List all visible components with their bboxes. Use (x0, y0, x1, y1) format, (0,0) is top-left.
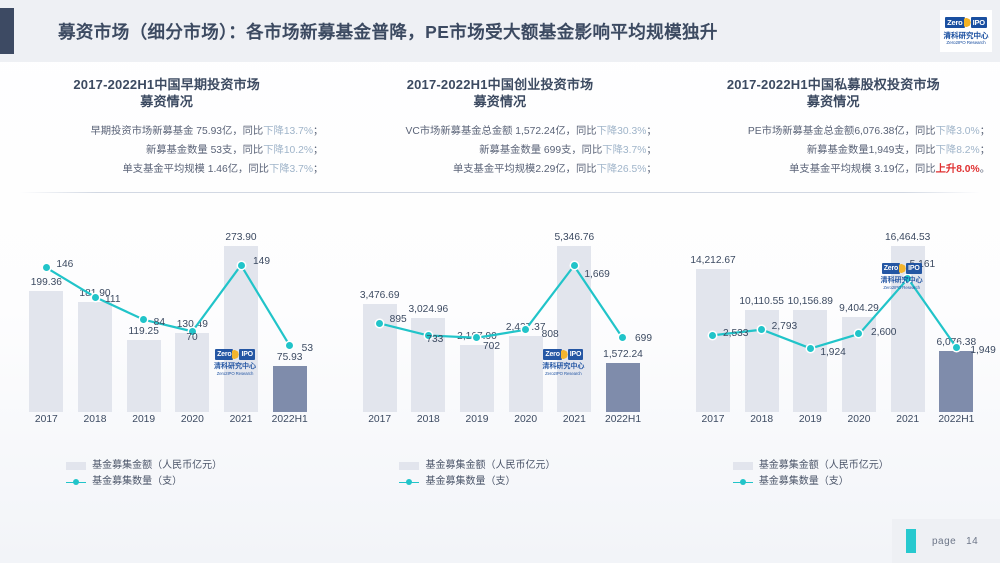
legend-amount: 基金募集金额（人民币亿元） (667, 458, 1000, 474)
line-value-label: 1,949 (970, 345, 996, 356)
legend-count-label: 基金募集数量（支） (759, 474, 934, 490)
line-value-label: 808 (542, 329, 559, 340)
line-point-2018 (92, 294, 99, 301)
x-axis-tick: 2018 (737, 414, 786, 425)
header-accent-bar (0, 8, 14, 54)
summary-text: 新募基金数量 699支，同比 (479, 145, 602, 156)
column-early-stage: 2017-2022H1中国早期投资市场 募资情况 早期投资市场新募基金 75.9… (0, 62, 333, 492)
count-line-series (22, 200, 314, 412)
x-axis-tick: 2019 (119, 414, 168, 425)
summary-line: PE市场新募基金总金额6,076.38亿，同比下降3.0%； (685, 122, 990, 141)
legend-count: 基金募集数量（支） (0, 474, 333, 490)
summary-punct: ； (313, 164, 323, 175)
summary-text: 早期投资市场新募基金 75.93亿，同比 (90, 126, 263, 137)
summary-change-value: 下降13.7% (263, 126, 313, 137)
x-axis-tick: 2020 (835, 414, 884, 425)
x-axis-tick: 2018 (71, 414, 120, 425)
chart-plot-area: 199.36181.90119.25130.49273.9075.9314611… (22, 200, 314, 412)
chart-legend: 基金募集金额（人民币亿元） 基金募集数量（支） (333, 458, 666, 490)
line-value-label: 70 (186, 332, 197, 343)
x-axis-tick: 2019 (453, 414, 502, 425)
x-axis-tick: 2021 (883, 414, 932, 425)
x-axis-tick: 2022H1 (265, 414, 314, 425)
page-title: 募资市场（细分市场）：各市场新募基金普降，PE市场受大额基金影响平均规模独升 (58, 0, 718, 62)
page-label: page (932, 536, 956, 547)
summary-change-value: 下降3.0% (936, 126, 980, 137)
legend-amount-label: 基金募集金额（人民币亿元） (425, 458, 600, 474)
legend-amount: 基金募集金额（人民币亿元） (0, 458, 333, 474)
summary-punct: ； (313, 145, 323, 156)
legend-count-label: 基金募集数量（支） (92, 474, 267, 490)
column-venture-capital: 2017-2022H1中国创业投资市场 募资情况 VC市场新募基金总金额 1,5… (333, 62, 666, 492)
legend-bar-swatch (66, 462, 86, 470)
line-value-label: 2,533 (723, 328, 749, 339)
column-private-equity: 2017-2022H1中国私募股权投资市场 募资情况 PE市场新募基金总金额6,… (667, 62, 1000, 492)
column-title: 2017-2022H1中国早期投资市场 募资情况 (0, 76, 333, 110)
legend-bar-swatch (733, 462, 753, 470)
legend-amount-label: 基金募集金额（人民币亿元） (759, 458, 934, 474)
line-value-label: 1,669 (584, 269, 610, 280)
summary-text: PE市场新募基金总金额6,076.38亿，同比 (748, 126, 936, 137)
logo-wordmark: Zero IPO (945, 17, 987, 29)
summary-punct: 。 (980, 164, 990, 175)
line-point-2021 (238, 262, 245, 269)
x-axis-labels: 201720182019202020212022H1 (689, 414, 981, 425)
summary-change-value: 下降10.2% (263, 145, 313, 156)
x-axis-labels: 201720182019202020212022H1 (22, 414, 314, 425)
line-value-label: 53 (302, 343, 313, 354)
chart-private-equity: 14,212.6710,110.5510,156.899,404.2916,46… (667, 200, 1000, 450)
line-value-label: 1,924 (820, 347, 846, 358)
chart-legend: 基金募集金额（人民币亿元） 基金募集数量（支） (0, 458, 333, 490)
section-divider (20, 192, 980, 193)
summary-punct: ； (313, 126, 323, 137)
x-axis-tick: 2020 (168, 414, 217, 425)
column-title: 2017-2022H1中国创业投资市场 募资情况 (333, 76, 666, 110)
x-axis-tick: 2017 (689, 414, 738, 425)
summary-text: 单支基金平均规模 1.46亿，同比 (122, 164, 268, 175)
legend-count: 基金募集数量（支） (667, 474, 1000, 490)
legend-count: 基金募集数量（支） (333, 474, 666, 490)
line-value-label: 146 (56, 259, 73, 270)
x-axis-tick: 2021 (550, 414, 599, 425)
line-value-label: 2,600 (871, 327, 897, 338)
legend-amount: 基金募集金额（人民币亿元） (333, 458, 666, 474)
page-indicator: page 14 (932, 536, 978, 547)
summary-text: 单支基金平均规模 3.19亿，同比 (789, 164, 935, 175)
chart-plot-area: 3,476.693,024.962,167.902,437.375,346.76… (355, 200, 647, 412)
line-point-2019 (807, 345, 814, 352)
summary-change-value: 下降3.7% (269, 164, 313, 175)
line-value-label: 2,793 (772, 321, 798, 332)
x-axis-tick: 2018 (404, 414, 453, 425)
summary-line: 新募基金数量 53支，同比下降10.2%； (18, 141, 323, 160)
column-summary: 早期投资市场新募基金 75.93亿，同比下降13.7%；新募基金数量 53支，同… (0, 122, 333, 179)
line-value-label: 111 (105, 294, 120, 305)
line-value-label: 702 (483, 341, 500, 352)
summary-line: VC市场新募基金总金额 1,572.24亿，同比下降30.3%； (351, 122, 656, 141)
summary-punct: ； (980, 145, 990, 156)
summary-text: 新募基金数量 53支，同比 (146, 145, 263, 156)
chart-legend: 基金募集金额（人民币亿元） 基金募集数量（支） (667, 458, 1000, 490)
summary-line: 单支基金平均规模 1.46亿，同比下降3.7%； (18, 160, 323, 179)
legend-line-swatch (399, 478, 419, 486)
logo-english-name: Zero2IPO Research (946, 40, 985, 46)
page-number: 14 (966, 536, 978, 547)
summary-line: 新募基金数量1,949支，同比下降8.2%； (685, 141, 990, 160)
summary-punct: ； (980, 126, 990, 137)
line-value-label: 699 (635, 333, 652, 344)
legend-amount-label: 基金募集金额（人民币亿元） (92, 458, 267, 474)
x-axis-tick: 2017 (22, 414, 71, 425)
legend-line-swatch (733, 478, 753, 486)
x-axis-tick: 2020 (501, 414, 550, 425)
summary-line: 单支基金平均规模2.29亿，同比下降26.5%； (351, 160, 656, 179)
chart-venture-capital: 3,476.693,024.962,167.902,437.375,346.76… (333, 200, 666, 450)
summary-line: 单支基金平均规模 3.19亿，同比上升8.0%。 (685, 160, 990, 179)
line-value-label: 733 (426, 334, 443, 345)
summary-text: 单支基金平均规模2.29亿，同比 (453, 164, 597, 175)
column-summary: VC市场新募基金总金额 1,572.24亿，同比下降30.3%；新募基金数量 6… (333, 122, 666, 179)
summary-change-value: 下降30.3% (597, 126, 647, 137)
line-value-label: 84 (154, 317, 165, 328)
footer-accent-mark (906, 529, 916, 553)
summary-punct: ； (646, 126, 656, 137)
slide-header: 募资市场（细分市场）：各市场新募基金普降，PE市场受大额基金影响平均规模独升 (0, 0, 1000, 62)
count-line-series (355, 200, 647, 412)
logo-ipo-text: IPO (971, 17, 987, 28)
legend-bar-swatch (399, 462, 419, 470)
x-axis-tick: 2019 (786, 414, 835, 425)
slide: 募资市场（细分市场）：各市场新募基金普降，PE市场受大额基金影响平均规模独升 Z… (0, 0, 1000, 563)
line-value-label: 5,161 (910, 259, 936, 270)
x-axis-tick: 2022H1 (599, 414, 648, 425)
summary-punct: ； (646, 164, 656, 175)
line-point-2017 (43, 264, 50, 271)
slide-footer: page 14 (892, 519, 1000, 563)
zero2ipo-logo: Zero IPO 清科研究中心 Zero2IPO Research (940, 10, 992, 52)
line-value-label: 149 (253, 256, 270, 267)
summary-line: 新募基金数量 699支，同比下降3.7%； (351, 141, 656, 160)
x-axis-tick: 2021 (217, 414, 266, 425)
summary-line: 早期投资市场新募基金 75.93亿，同比下降13.7%； (18, 122, 323, 141)
chart-early-stage: 199.36181.90119.25130.49273.9075.9314611… (0, 200, 333, 450)
logo-zero-text: Zero (945, 17, 964, 28)
summary-change-value: 下降3.7% (602, 145, 646, 156)
count-line-series (689, 200, 981, 412)
line-point-2017 (376, 320, 383, 327)
summary-text: 新募基金数量1,949支，同比 (807, 145, 936, 156)
column-title: 2017-2022H1中国私募股权投资市场 募资情况 (667, 76, 1000, 110)
x-axis-tick: 2017 (355, 414, 404, 425)
line-value-label: 895 (390, 314, 407, 325)
x-axis-tick: 2022H1 (932, 414, 981, 425)
summary-change-value: 下降8.2% (936, 145, 980, 156)
market-columns: 2017-2022H1中国早期投资市场 募资情况 早期投资市场新募基金 75.9… (0, 62, 1000, 492)
legend-count-label: 基金募集数量（支） (425, 474, 600, 490)
summary-text: VC市场新募基金总金额 1,572.24亿，同比 (405, 126, 596, 137)
summary-change-value: 上升8.0% (936, 164, 980, 175)
legend-line-swatch (66, 478, 86, 486)
summary-punct: ； (646, 145, 656, 156)
logo-chinese-name: 清科研究中心 (944, 31, 989, 40)
x-axis-labels: 201720182019202020212022H1 (355, 414, 647, 425)
chart-plot-area: 14,212.6710,110.5510,156.899,404.2916,46… (689, 200, 981, 412)
column-summary: PE市场新募基金总金额6,076.38亿，同比下降3.0%；新募基金数量1,94… (667, 122, 1000, 179)
summary-change-value: 下降26.5% (597, 164, 647, 175)
